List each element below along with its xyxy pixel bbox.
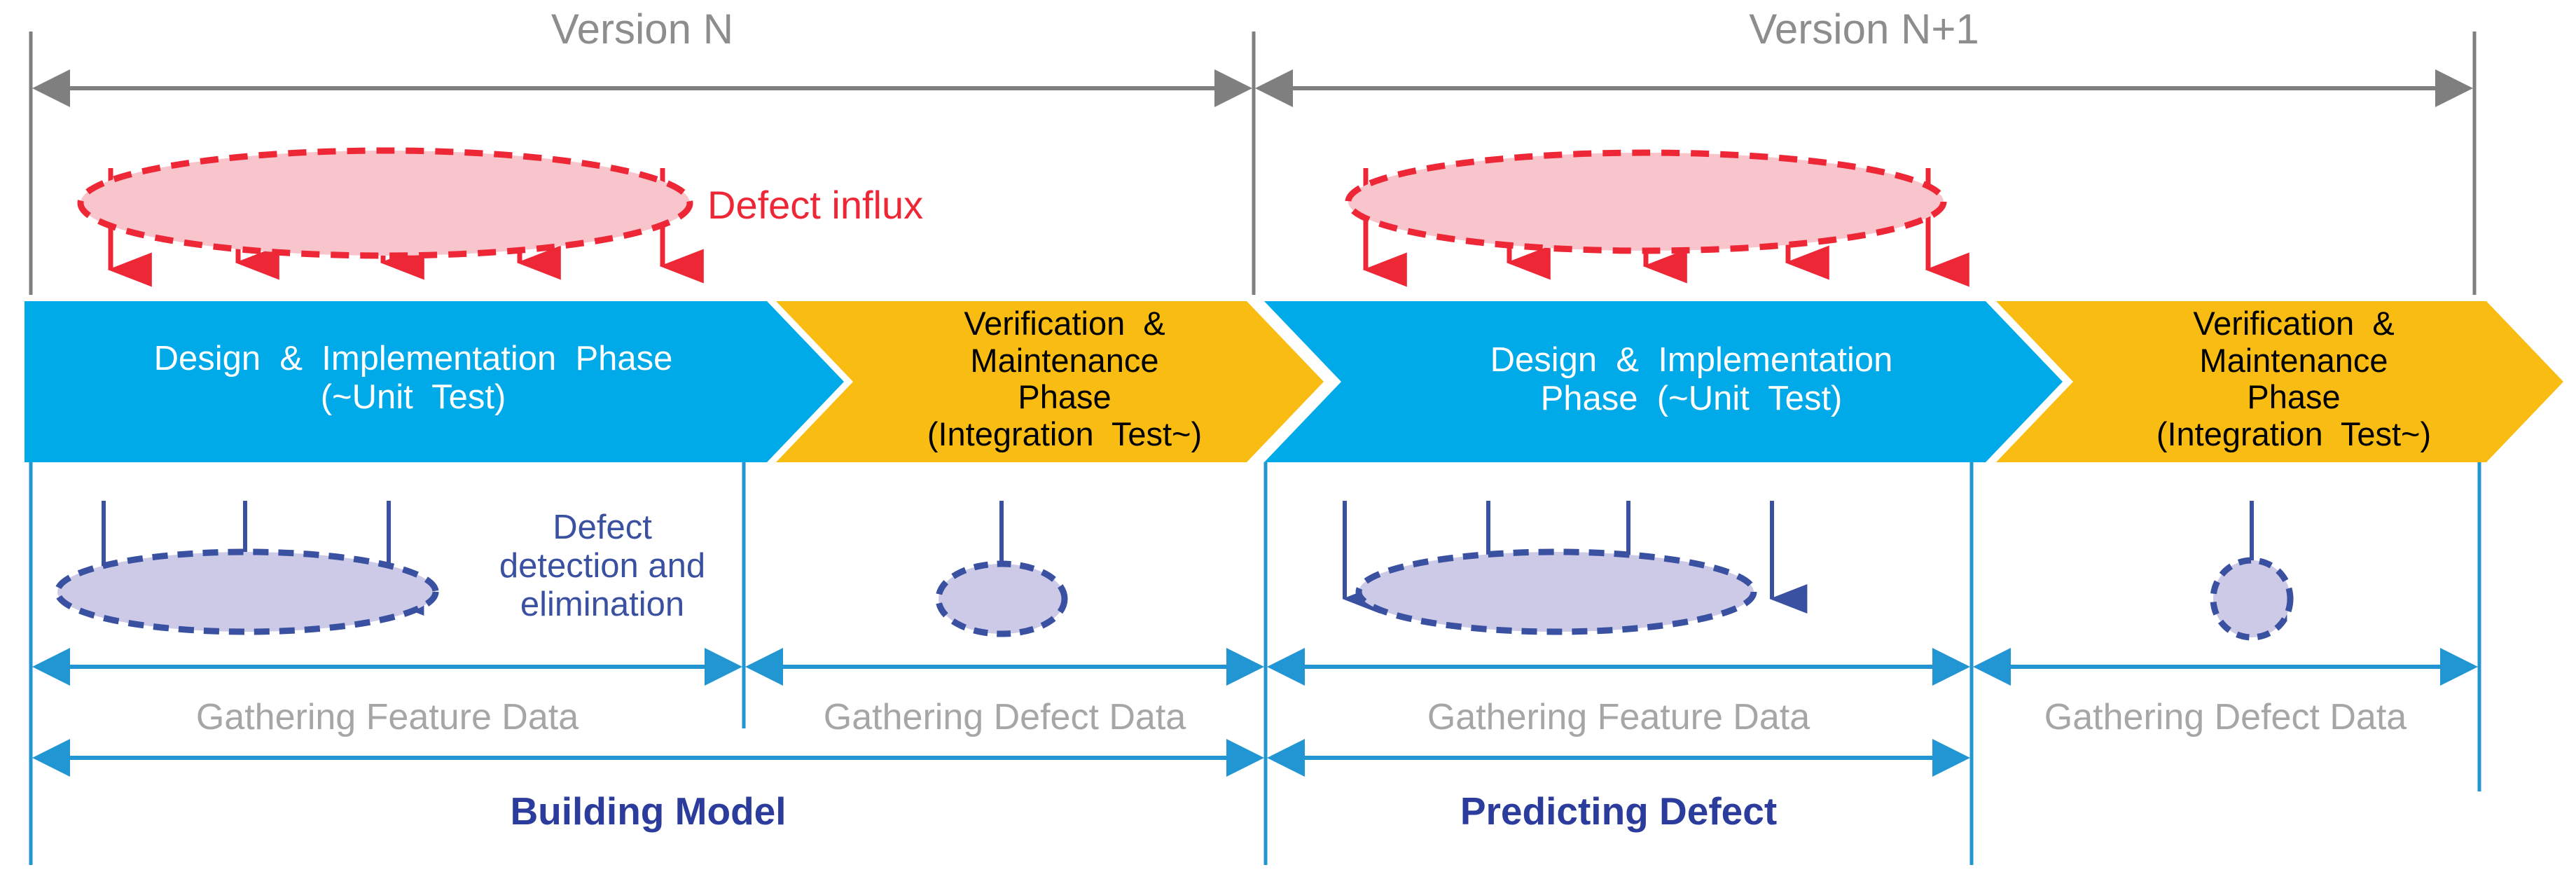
gathering-defect-data-label-n1: Gathering Defect Data bbox=[1972, 697, 2479, 738]
phase-label-verification-n: Verification & Maintenance Phase (Integr… bbox=[868, 305, 1261, 453]
defect-prediction-lifecycle-diagram: Version N Version N+1 Defect influx Desi… bbox=[0, 0, 2576, 893]
defect-influx-ellipse bbox=[1348, 153, 1944, 251]
defect-removal-group-n1-design bbox=[1345, 501, 1772, 632]
phase-label-design-n1: Design & Implementation Phase (~Unit Tes… bbox=[1355, 341, 2028, 418]
defect-removal-ellipse bbox=[2213, 560, 2290, 637]
defect-influx-group-n bbox=[81, 151, 690, 270]
phase-label-design-n: Design & Implementation Phase (~Unit Tes… bbox=[42, 340, 784, 417]
building-model-label: Building Model bbox=[31, 790, 1266, 833]
gathering-defect-data-label-n: Gathering Defect Data bbox=[744, 697, 1266, 738]
defect-removal-ellipse bbox=[939, 564, 1065, 634]
version-n1-title: Version N+1 bbox=[1254, 6, 2474, 53]
phase-label-verification-n1: Verification & Maintenance Phase (Integr… bbox=[2091, 305, 2497, 453]
defect-detection-label: Defect detection and elimination bbox=[483, 508, 721, 624]
defect-influx-label: Defect influx bbox=[707, 184, 923, 228]
predicting-defect-label: Predicting Defect bbox=[1266, 790, 1972, 833]
defect-removal-group-n-design bbox=[57, 501, 436, 632]
defect-influx-ellipse bbox=[81, 151, 690, 256]
defect-removal-ellipse bbox=[57, 552, 436, 632]
defect-removal-group-n-verification bbox=[939, 501, 1065, 634]
version-n-title: Version N bbox=[31, 6, 1254, 53]
gathering-feature-data-label-n1: Gathering Feature Data bbox=[1266, 697, 1972, 738]
defect-influx-group-n1 bbox=[1348, 153, 1944, 270]
gathering-feature-data-label-n: Gathering Feature Data bbox=[31, 697, 744, 738]
defect-removal-group-n1-verification bbox=[2213, 501, 2290, 637]
defect-removal-ellipse bbox=[1359, 552, 1754, 632]
